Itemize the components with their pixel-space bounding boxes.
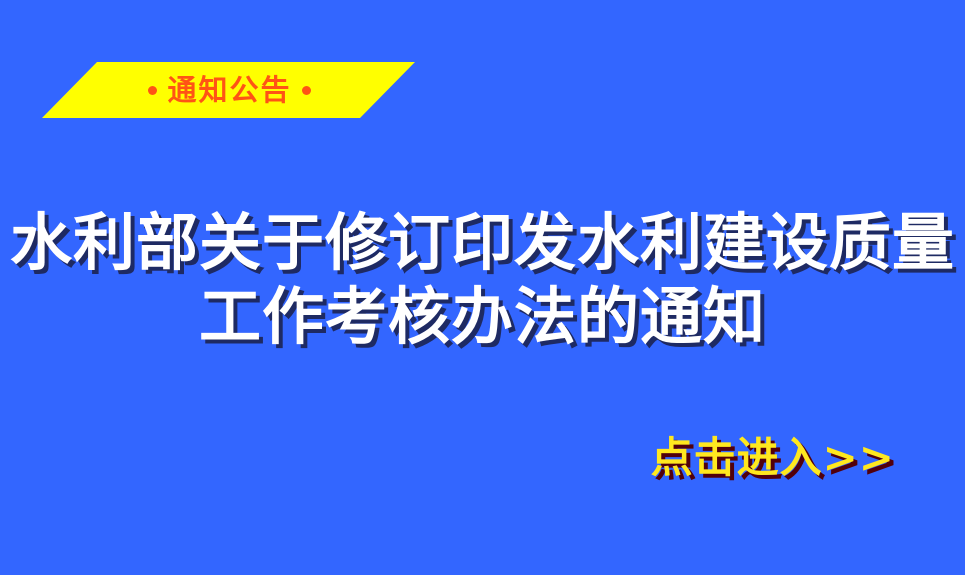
enter-link[interactable]: 点击进入>> <box>0 432 965 484</box>
ribbon-label: 通知公告 <box>167 76 291 105</box>
page-title-line-2: 工作考核办法的通知 <box>0 280 965 354</box>
bullet-dot-icon-right <box>302 86 311 95</box>
bullet-dot-icon-left <box>148 86 157 95</box>
page-title: 水利部关于修订印发水利建设质量 工作考核办法的通知 <box>0 206 965 354</box>
page-title-line-1: 水利部关于修订印发水利建设质量 <box>0 206 965 280</box>
notice-category-ribbon[interactable]: 通知公告 <box>42 62 415 118</box>
notice-banner-stage: 通知公告 水利部关于修订印发水利建设质量 工作考核办法的通知 点击进入>> <box>0 0 965 575</box>
ribbon-label-group: 通知公告 <box>42 62 415 118</box>
